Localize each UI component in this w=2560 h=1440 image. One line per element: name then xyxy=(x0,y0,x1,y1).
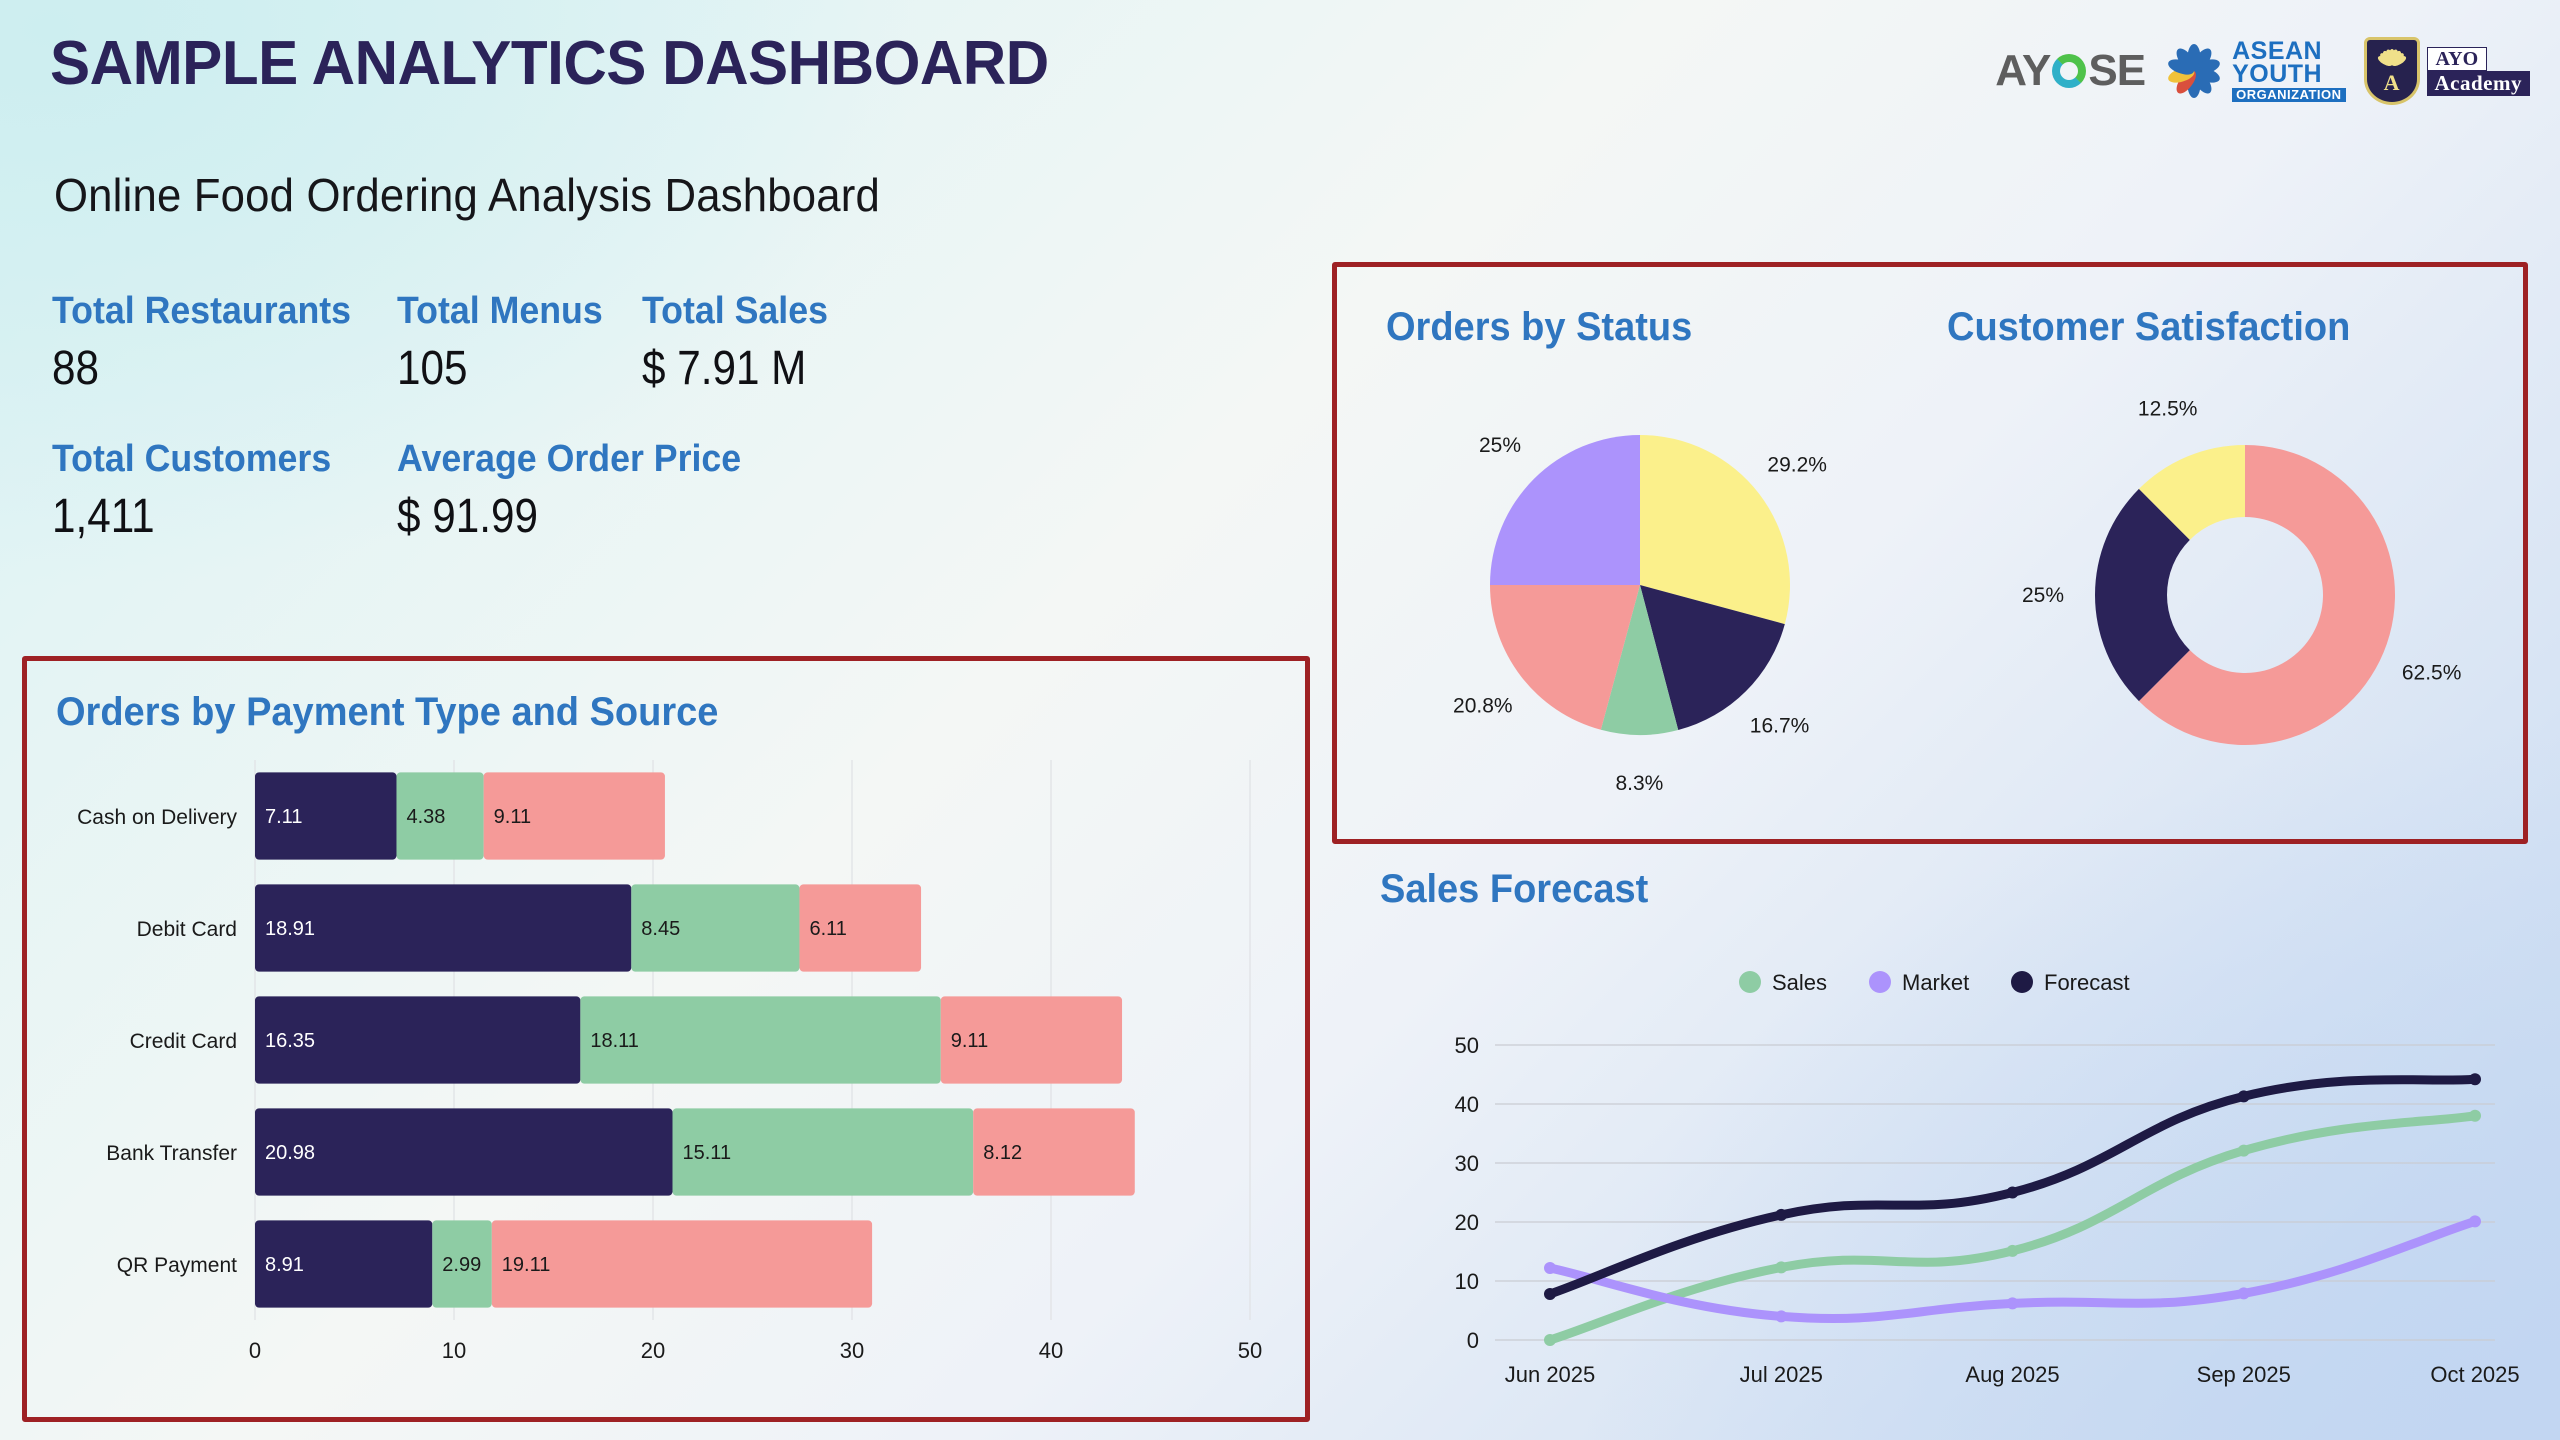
chart-title-orders-by-payment: Orders by Payment Type and Source xyxy=(56,690,718,735)
svg-text:16.35: 16.35 xyxy=(265,1030,315,1052)
svg-text:40: 40 xyxy=(1039,1338,1063,1363)
kpi-area: Total Restaurants 88 Total Menus 105 Tot… xyxy=(52,290,1312,544)
svg-text:Jun 2025: Jun 2025 xyxy=(1505,1362,1596,1387)
svg-text:7.11: 7.11 xyxy=(265,806,302,828)
svg-text:2.99: 2.99 xyxy=(442,1254,481,1276)
ayo-academy-text: AYO Academy xyxy=(2427,47,2530,96)
pie-chart-orders-by-status[interactable]: 29.2%16.7%8.3%20.8%25% xyxy=(1400,355,1880,815)
svg-text:62.5%: 62.5% xyxy=(2402,661,2462,684)
svg-text:Debit Card: Debit Card xyxy=(137,918,237,941)
svg-text:20: 20 xyxy=(1455,1210,1479,1235)
svg-text:29.2%: 29.2% xyxy=(1767,454,1827,477)
svg-text:25%: 25% xyxy=(2022,584,2064,607)
chart-title-customer-satisfaction: Customer Satisfaction xyxy=(1947,305,2350,350)
svg-text:0: 0 xyxy=(1467,1328,1479,1353)
svg-text:30: 30 xyxy=(1455,1151,1479,1176)
asean-youth-organization-logo: ASEAN YOUTH ORGANIZATION xyxy=(2163,40,2345,103)
asean-line-2: YOUTH xyxy=(2232,63,2345,87)
kpi-value: 88 xyxy=(52,341,356,396)
svg-text:8.3%: 8.3% xyxy=(1615,772,1663,795)
svg-text:50: 50 xyxy=(1455,1033,1479,1058)
svg-text:20.98: 20.98 xyxy=(265,1142,315,1164)
kpi-label: Total Sales xyxy=(642,290,828,333)
academy-line-1: AYO xyxy=(2427,47,2488,71)
logo-bar: AY SE ASEAN YOUTH ORGANIZATION A AYO Aca… xyxy=(1995,26,2530,116)
svg-text:20.8%: 20.8% xyxy=(1453,694,1513,717)
ayose-logo-text-left: AY xyxy=(1995,49,2050,93)
svg-text:6.11: 6.11 xyxy=(809,918,846,940)
svg-text:Oct 2025: Oct 2025 xyxy=(2430,1362,2519,1387)
svg-text:Forecast: Forecast xyxy=(2044,970,2130,995)
svg-text:Aug 2025: Aug 2025 xyxy=(1965,1362,2059,1387)
asean-flower-icon xyxy=(2163,40,2225,102)
svg-text:30: 30 xyxy=(840,1338,864,1363)
asean-logo-text: ASEAN YOUTH ORGANIZATION xyxy=(2232,40,2345,103)
kpi-label: Total Menus xyxy=(397,290,627,333)
asean-line-3: ORGANIZATION xyxy=(2232,88,2345,102)
svg-text:25%: 25% xyxy=(1479,434,1521,457)
kpi-total-sales: Total Sales $ 7.91 M xyxy=(642,290,840,396)
kpi-value: $ 91.99 xyxy=(397,489,719,544)
ayose-ring-icon xyxy=(2052,54,2086,88)
page-subtitle: Online Food Ordering Analysis Dashboard xyxy=(54,168,880,222)
kpi-label: Total Customers xyxy=(52,438,376,481)
svg-text:20: 20 xyxy=(641,1338,665,1363)
svg-text:QR Payment: QR Payment xyxy=(117,1254,237,1277)
bar-chart-orders-by-payment[interactable]: 01020304050Cash on Delivery7.114.389.11D… xyxy=(40,750,1290,1400)
dashboard-root: SAMPLE ANALYTICS DASHBOARD Online Food O… xyxy=(0,0,2560,1440)
shield-icon: A xyxy=(2364,37,2420,105)
chart-title-orders-by-status: Orders by Status xyxy=(1386,305,1692,350)
line-chart-sales-forecast[interactable]: 01020304050Jun 2025Jul 2025Aug 2025Sep 2… xyxy=(1355,940,2545,1420)
kpi-row-1: Total Restaurants 88 Total Menus 105 Tot… xyxy=(52,290,1312,396)
svg-text:Sales: Sales xyxy=(1772,970,1827,995)
svg-text:4.38: 4.38 xyxy=(406,806,445,828)
svg-text:Credit Card: Credit Card xyxy=(130,1030,237,1053)
svg-text:9.11: 9.11 xyxy=(494,806,531,828)
svg-text:9.11: 9.11 xyxy=(951,1030,988,1052)
svg-text:Market: Market xyxy=(1902,970,1969,995)
svg-text:8.91: 8.91 xyxy=(265,1254,304,1276)
svg-text:0: 0 xyxy=(249,1338,261,1363)
svg-text:Jul 2025: Jul 2025 xyxy=(1740,1362,1823,1387)
svg-text:50: 50 xyxy=(1238,1338,1262,1363)
svg-text:18.11: 18.11 xyxy=(590,1030,639,1052)
svg-text:Sep 2025: Sep 2025 xyxy=(2197,1362,2291,1387)
academy-line-2: Academy xyxy=(2427,71,2530,96)
svg-text:10: 10 xyxy=(442,1338,466,1363)
svg-text:16.7%: 16.7% xyxy=(1750,714,1810,737)
kpi-total-customers: Total Customers 1,411 xyxy=(52,438,397,544)
svg-text:12.5%: 12.5% xyxy=(2138,397,2198,420)
donut-chart-customer-satisfaction[interactable]: 62.5%25%12.5% xyxy=(1955,345,2515,825)
chart-title-sales-forecast: Sales Forecast xyxy=(1380,867,1648,912)
svg-text:8.45: 8.45 xyxy=(641,918,680,940)
svg-text:8.12: 8.12 xyxy=(983,1142,1022,1164)
kpi-value: $ 7.91 M xyxy=(642,341,816,396)
svg-text:19.11: 19.11 xyxy=(502,1254,551,1276)
kpi-row-2: Total Customers 1,411 Average Order Pric… xyxy=(52,438,1312,544)
svg-text:18.91: 18.91 xyxy=(265,918,315,940)
kpi-label: Total Restaurants xyxy=(52,290,376,333)
ayose-logo-text-right: SE xyxy=(2088,49,2145,93)
svg-text:15.11: 15.11 xyxy=(683,1142,732,1164)
kpi-label: Average Order Price xyxy=(397,438,741,481)
kpi-total-menus: Total Menus 105 xyxy=(397,290,642,396)
ayose-logo: AY SE xyxy=(1995,49,2145,93)
kpi-total-restaurants: Total Restaurants 88 xyxy=(52,290,397,396)
svg-text:40: 40 xyxy=(1455,1092,1479,1117)
kpi-average-order-price: Average Order Price $ 91.99 xyxy=(397,438,763,544)
svg-text:10: 10 xyxy=(1455,1269,1479,1294)
academy-monogram: A xyxy=(2367,70,2417,96)
svg-text:Cash on Delivery: Cash on Delivery xyxy=(77,806,237,829)
page-title: SAMPLE ANALYTICS DASHBOARD xyxy=(50,28,1049,99)
kpi-value: 105 xyxy=(397,341,613,396)
kpi-value: 1,411 xyxy=(52,489,356,544)
ayo-academy-logo: A AYO Academy xyxy=(2364,37,2530,105)
svg-text:Bank Transfer: Bank Transfer xyxy=(106,1142,237,1165)
